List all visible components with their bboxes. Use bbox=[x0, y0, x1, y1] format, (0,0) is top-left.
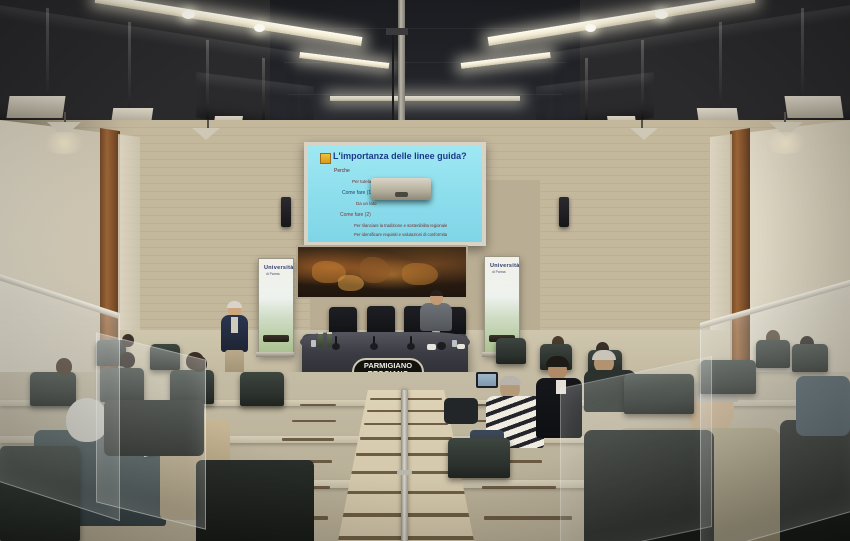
cup bbox=[427, 344, 436, 350]
duct-ring bbox=[262, 58, 265, 120]
pendant-lamp bbox=[630, 128, 658, 140]
ceiling-panel-seam bbox=[288, 94, 562, 95]
laptop-screen bbox=[478, 374, 496, 386]
loudspeaker-left bbox=[281, 197, 291, 227]
banner-logo-right: Università bbox=[490, 263, 520, 269]
aisle-step-left bbox=[282, 438, 334, 441]
banner-base-left bbox=[256, 352, 294, 357]
light-node bbox=[655, 10, 668, 19]
water-bottle bbox=[318, 334, 323, 347]
slide-bullet-3: Come fare (1) bbox=[342, 190, 373, 196]
aisle-step-right bbox=[482, 486, 556, 489]
bottle-cap bbox=[318, 332, 323, 334]
strip-light-center-rear bbox=[330, 96, 520, 101]
audience-seat bbox=[448, 438, 510, 478]
microphone-head bbox=[407, 343, 415, 350]
mural-detail bbox=[402, 263, 438, 285]
mural-detail bbox=[360, 257, 390, 283]
microphone-head bbox=[437, 342, 446, 350]
panelist-seated-body bbox=[420, 303, 452, 331]
light-node bbox=[254, 24, 265, 32]
slide-bullet-4: Da un lato bbox=[356, 201, 377, 206]
conference-hall-photo: L'importanza delle linee guida? Perche P… bbox=[0, 0, 850, 541]
cup bbox=[457, 344, 465, 349]
microphone-head bbox=[370, 343, 378, 350]
audience-hair bbox=[546, 356, 569, 367]
projector-lens bbox=[395, 192, 408, 197]
handrail-post bbox=[397, 470, 412, 475]
ceiling-mount-bracket bbox=[386, 28, 408, 35]
aisle-step-left bbox=[300, 404, 336, 406]
backpack bbox=[444, 398, 478, 424]
slide-bullet-1: Perche bbox=[334, 168, 350, 174]
mural-detail bbox=[338, 275, 364, 291]
panel-table-top bbox=[300, 332, 470, 352]
glass-railing-left-2 bbox=[96, 332, 206, 529]
banner-logo-left: Università bbox=[264, 265, 294, 271]
slide-bullet-5: Come fare (2) bbox=[340, 212, 371, 218]
duct-ring bbox=[206, 40, 209, 122]
microphone-head bbox=[332, 343, 340, 350]
duct-bracket bbox=[784, 96, 843, 118]
duct-ring bbox=[585, 58, 588, 120]
banner-dark-bar bbox=[263, 335, 289, 342]
drinking-glass bbox=[311, 340, 316, 347]
pendant-lamp bbox=[192, 128, 220, 140]
light-node bbox=[585, 24, 596, 32]
light-node bbox=[182, 10, 195, 19]
glass-railing-right-2 bbox=[560, 356, 712, 541]
audience-seat bbox=[240, 372, 284, 406]
presenter-hair bbox=[227, 301, 242, 308]
panelist-hair bbox=[430, 290, 443, 296]
pendant-glow bbox=[40, 132, 88, 154]
aisle-step-left bbox=[292, 420, 336, 422]
duct-bracket bbox=[6, 96, 65, 118]
loudspeaker-right bbox=[559, 197, 569, 227]
bottle-cap bbox=[327, 332, 332, 334]
slide-bullet-6: Per rilanciare la tradizione e sostenibi… bbox=[354, 223, 447, 228]
slide-title: L'importanza delle linee guida? bbox=[333, 151, 478, 161]
audience-hair bbox=[592, 350, 616, 360]
ceiling-panel-seam bbox=[280, 28, 570, 29]
audience-seat-foreground bbox=[196, 460, 314, 541]
rollup-banner-left: Università di Parma bbox=[258, 258, 294, 356]
aisle-step-right bbox=[484, 516, 572, 520]
audience-seat bbox=[496, 338, 526, 364]
banner-subtitle-left: di Parma bbox=[266, 272, 280, 276]
pendant-glow bbox=[762, 132, 810, 154]
presenter-shirt bbox=[231, 317, 238, 333]
ceiling-panel-seam bbox=[284, 62, 566, 63]
slide-bullet-7: Per identificare requisiti e valutazioni… bbox=[354, 232, 447, 237]
wall-mural-artwork bbox=[296, 245, 468, 299]
water-bottle bbox=[327, 334, 332, 347]
slide-bullet-icon bbox=[320, 153, 331, 164]
audience-hair bbox=[499, 376, 521, 385]
stair-handrail bbox=[401, 390, 408, 541]
duct-ring bbox=[641, 40, 644, 122]
banner-subtitle-right: di Parma bbox=[492, 270, 506, 274]
